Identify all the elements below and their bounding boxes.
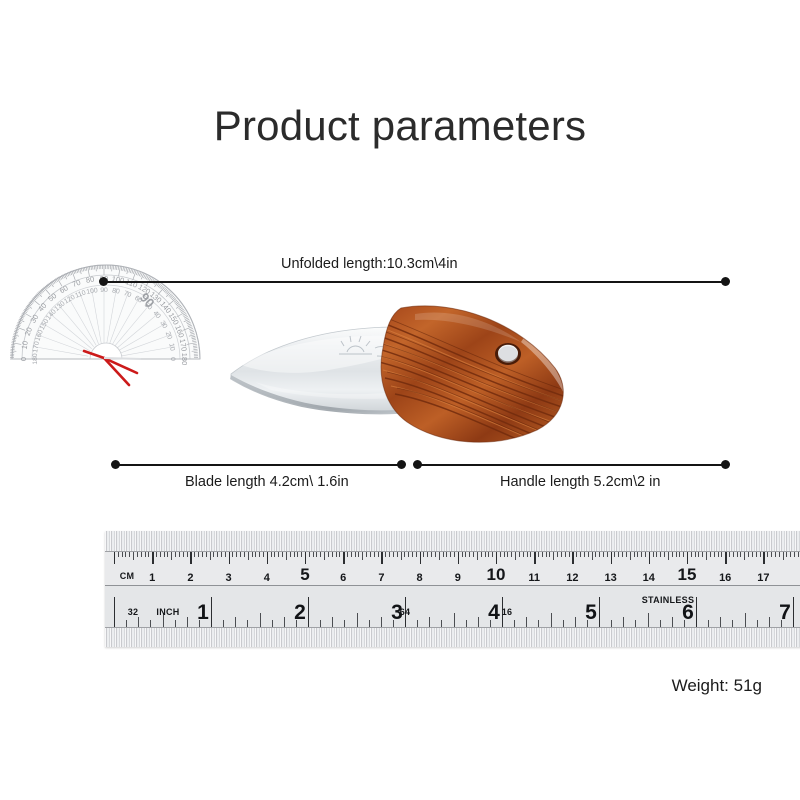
- rosewood-handle: [373, 306, 578, 450]
- cm-number-14: 14: [643, 572, 655, 584]
- inch-number-1: 1: [197, 601, 209, 625]
- svg-text:0: 0: [169, 357, 176, 361]
- handle-length-endpoint-left: [413, 460, 422, 469]
- weight-label: Weight: 51g: [672, 676, 762, 696]
- cm-number-6: 6: [340, 572, 346, 584]
- svg-text:80: 80: [85, 275, 95, 285]
- cm-number-4: 4: [264, 572, 270, 584]
- inch-fraction-16: 16: [502, 607, 513, 617]
- cm-unit-label: CM: [120, 571, 135, 581]
- cm-number-3: 3: [226, 572, 232, 584]
- inch-number-7: 7: [779, 601, 791, 625]
- ruler-bottom-metal-band: [105, 627, 800, 647]
- unfolded-length-label: Unfolded length:10.3cm\4in: [281, 256, 458, 272]
- cm-number-1: 1: [149, 572, 155, 584]
- svg-text:80: 80: [112, 287, 121, 295]
- svg-text:0: 0: [19, 357, 28, 361]
- inch-fraction-32: 32: [128, 607, 139, 617]
- blade-length-line: [116, 464, 402, 466]
- cm-number-15: 15: [678, 565, 697, 585]
- handle-length-label: Handle length 5.2cm\2 in: [500, 474, 660, 490]
- svg-text:10: 10: [20, 340, 30, 350]
- cm-number-9: 9: [455, 572, 461, 584]
- handle-length-endpoint-right: [721, 460, 730, 469]
- cm-number-17: 17: [757, 572, 769, 584]
- inch-tick-marks: [105, 586, 800, 627]
- svg-text:180: 180: [180, 353, 189, 366]
- ruler-top-metal-band: [105, 531, 800, 552]
- cm-number-10: 10: [487, 565, 506, 585]
- handle-length-line: [418, 464, 726, 466]
- svg-text:90: 90: [100, 287, 108, 294]
- unfolded-length-endpoint-right: [721, 277, 730, 286]
- inch-number-2: 2: [294, 601, 306, 625]
- unfolded-length-endpoint-left: [99, 277, 108, 286]
- cm-number-13: 13: [604, 572, 616, 584]
- svg-text:10: 10: [167, 343, 175, 352]
- cm-number-7: 7: [378, 572, 384, 584]
- blade-length-label: Blade length 4.2cm\ 1.6in: [185, 474, 349, 490]
- inch-number-4: 4: [488, 601, 500, 625]
- svg-text:180: 180: [32, 353, 39, 365]
- page-title: Product parameters: [0, 102, 800, 150]
- stainless-steel-ruler: CM 1234567891011121314151617 INCH STAINL…: [105, 531, 800, 647]
- inch-fraction-64: 64: [400, 607, 411, 617]
- cm-number-12: 12: [566, 572, 578, 584]
- cm-number-8: 8: [417, 572, 423, 584]
- inch-unit-label: INCH: [156, 607, 179, 617]
- ruler-cm-scale: CM 1234567891011121314151617: [105, 552, 800, 586]
- inch-number-5: 5: [585, 601, 597, 625]
- folding-knife-product: [225, 290, 615, 450]
- unfolded-length-line: [104, 281, 726, 283]
- cm-number-11: 11: [528, 572, 540, 584]
- ruler-inch-scale: INCH STAINLESS 1234567 326416: [105, 586, 800, 627]
- infographic-canvas: Product parameters: [0, 0, 800, 800]
- cm-number-2: 2: [187, 572, 193, 584]
- blade-length-endpoint-left: [111, 460, 120, 469]
- lanyard-hole: [495, 343, 521, 365]
- cm-number-5: 5: [300, 565, 309, 585]
- blade-length-endpoint-right: [397, 460, 406, 469]
- inch-number-6: 6: [682, 601, 694, 625]
- cm-number-16: 16: [719, 572, 731, 584]
